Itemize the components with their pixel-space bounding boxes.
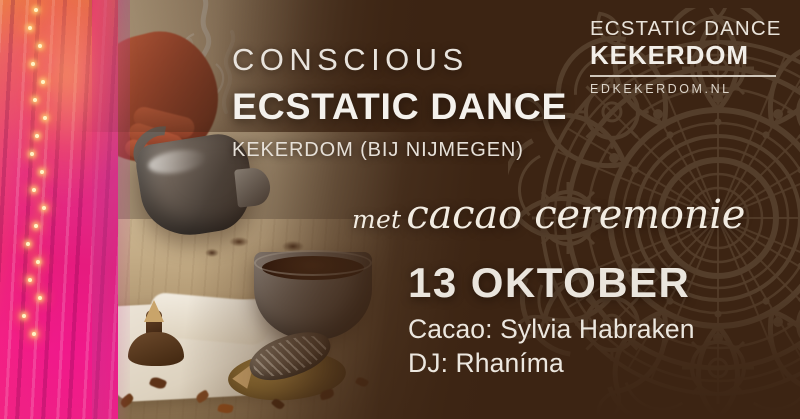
headline-location: KEKERDOM (BIJ NIJMEGEN) xyxy=(232,140,567,160)
credit-dj: DJ: Rhaníma xyxy=(408,347,695,379)
script-prefix: met xyxy=(352,205,401,234)
logo-line-1: ECSTATIC DANCE xyxy=(590,18,776,41)
logo-url[interactable]: EDKEKERDOM.NL xyxy=(590,82,776,96)
brand-logo[interactable]: ECSTATIC DANCE KEKERDOM EDKEKERDOM.NL xyxy=(590,18,776,96)
logo-line-2: KEKERDOM xyxy=(590,41,776,69)
credit-cacao: Cacao: Sylvia Habraken xyxy=(408,313,695,345)
event-date: 13 OKTOBER xyxy=(408,262,695,304)
script-tagline: met cacao ceremonie xyxy=(352,192,745,238)
poster-content: ECSTATIC DANCE KEKERDOM EDKEKERDOM.NL CO… xyxy=(0,0,800,419)
script-emphasis: cacao ceremonie xyxy=(406,192,745,238)
logo-divider xyxy=(590,75,776,77)
headline-title: ECSTATIC DANCE xyxy=(232,88,567,126)
event-details: 13 OKTOBER Cacao: Sylvia Habraken DJ: Rh… xyxy=(408,262,695,380)
headline-block: CONSCIOUS ECSTATIC DANCE KEKERDOM (BIJ N… xyxy=(232,44,567,160)
headline-kicker: CONSCIOUS xyxy=(232,44,567,75)
event-poster: ECSTATIC DANCE KEKERDOM EDKEKERDOM.NL CO… xyxy=(0,0,800,419)
